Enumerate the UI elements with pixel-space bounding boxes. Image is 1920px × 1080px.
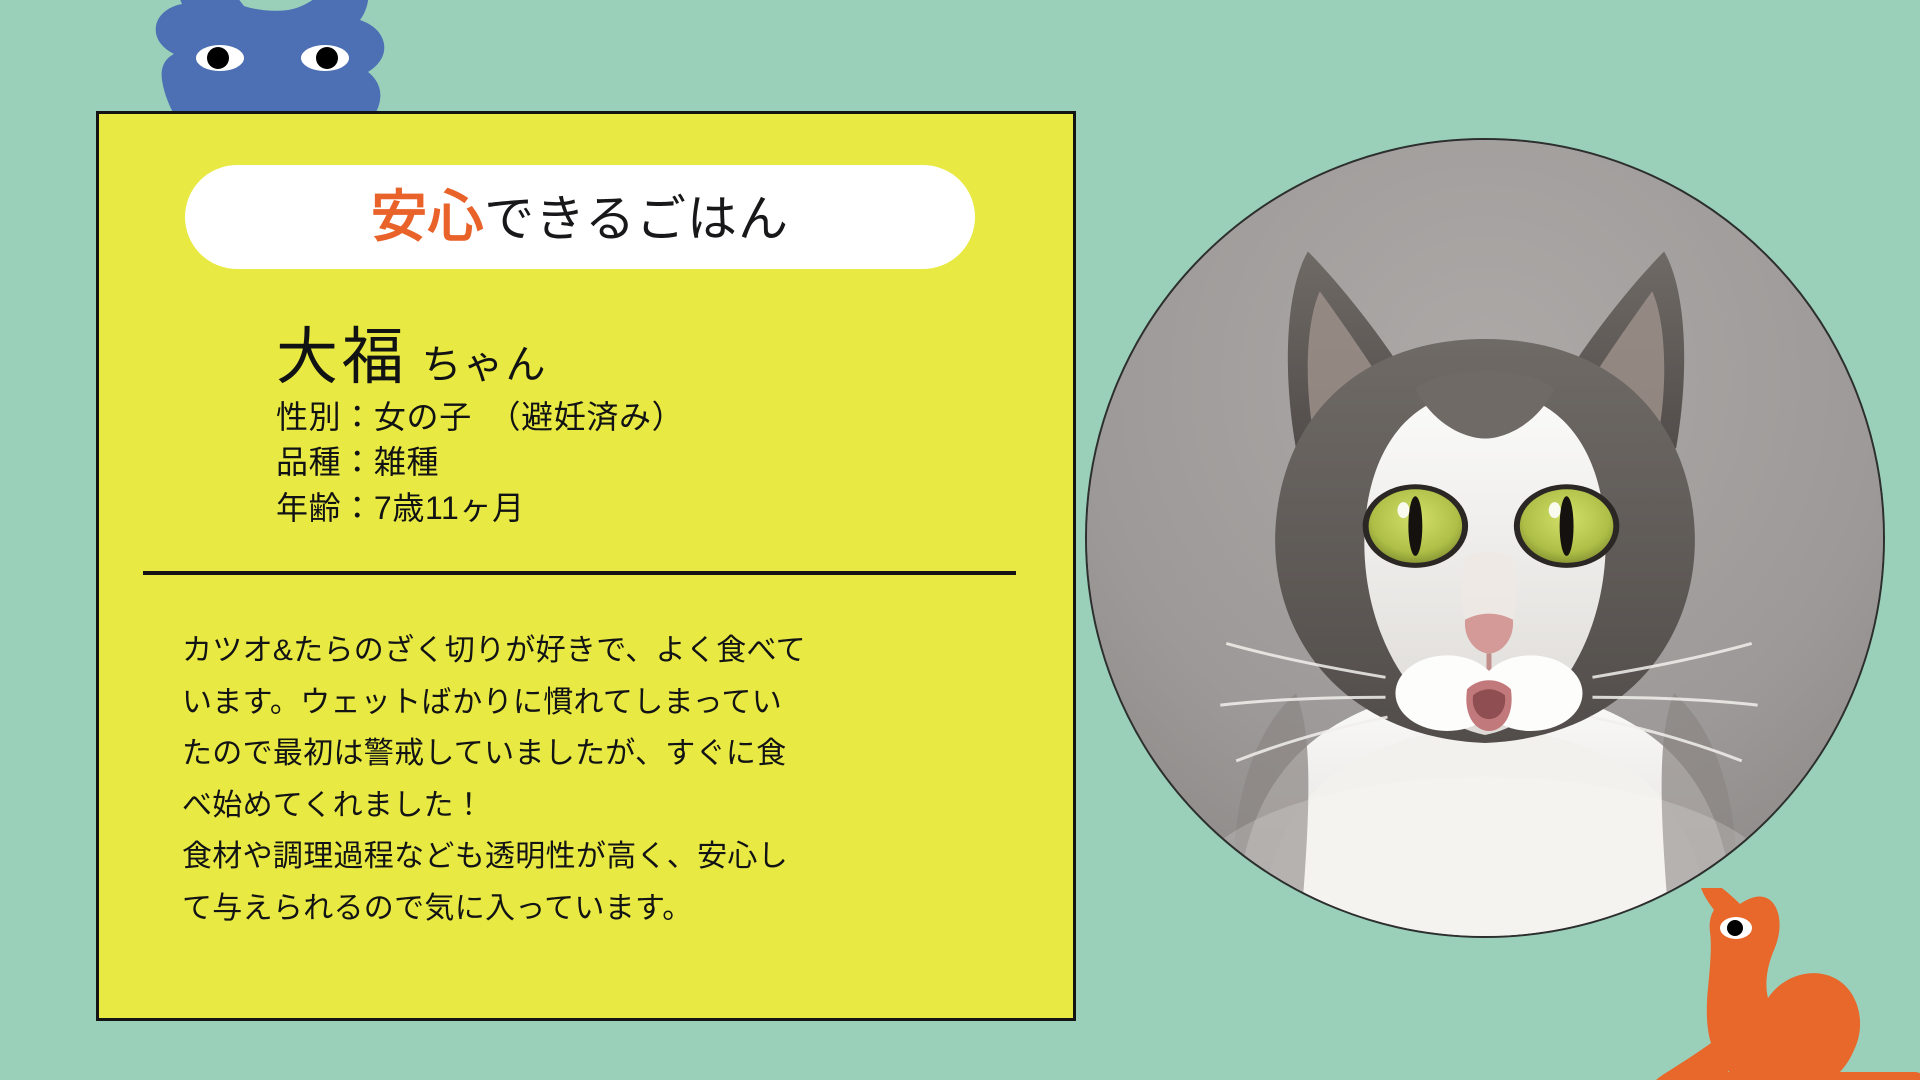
pet-spec-breed: 品種：雑種 <box>276 440 684 485</box>
review-line: べ始めてくれました！ <box>182 780 982 832</box>
pet-photo <box>1085 138 1885 938</box>
pet-name-given: 大福 <box>276 306 407 396</box>
pet-spec-sex: 性別：女の子 （避妊済み） <box>276 395 684 440</box>
blue-cat-decoration-icon <box>140 0 400 122</box>
review-line: たので最初は警戒していましたが、すぐに食 <box>182 728 982 780</box>
headline-rest: できるごはん <box>484 194 789 244</box>
orange-cat-decoration-icon <box>1636 888 1920 1080</box>
pet-spec-age: 年齢：7歳11ヶ月 <box>276 486 684 531</box>
headline-accent: 安心 <box>371 189 484 245</box>
headline-text: 安心できるごはん <box>371 189 789 245</box>
poster-canvas: 安心できるごはん 大福 ちゃん 性別：女の子 （避妊済み） 品種：雑種 年齢：7… <box>0 0 1920 1080</box>
pet-name-suffix: ちゃん <box>421 332 547 390</box>
review-text: カツオ&たらのざく切りが好きで、よく食べて います。ウェットばかりに慣れてしまっ… <box>182 625 982 935</box>
section-divider <box>143 571 1016 575</box>
pet-name: 大福 ちゃん <box>276 306 547 396</box>
review-line: て与えられるので気に入っています。 <box>182 883 982 935</box>
pet-specs: 性別：女の子 （避妊済み） 品種：雑種 年齢：7歳11ヶ月 <box>276 395 684 531</box>
headline-pill: 安心できるごはん <box>185 165 975 269</box>
review-line: カツオ&たらのざく切りが好きで、よく食べて <box>182 625 982 677</box>
review-line: 食材や調理過程なども透明性が高く、安心し <box>182 831 982 883</box>
review-line: います。ウェットばかりに慣れてしまってい <box>182 677 982 729</box>
